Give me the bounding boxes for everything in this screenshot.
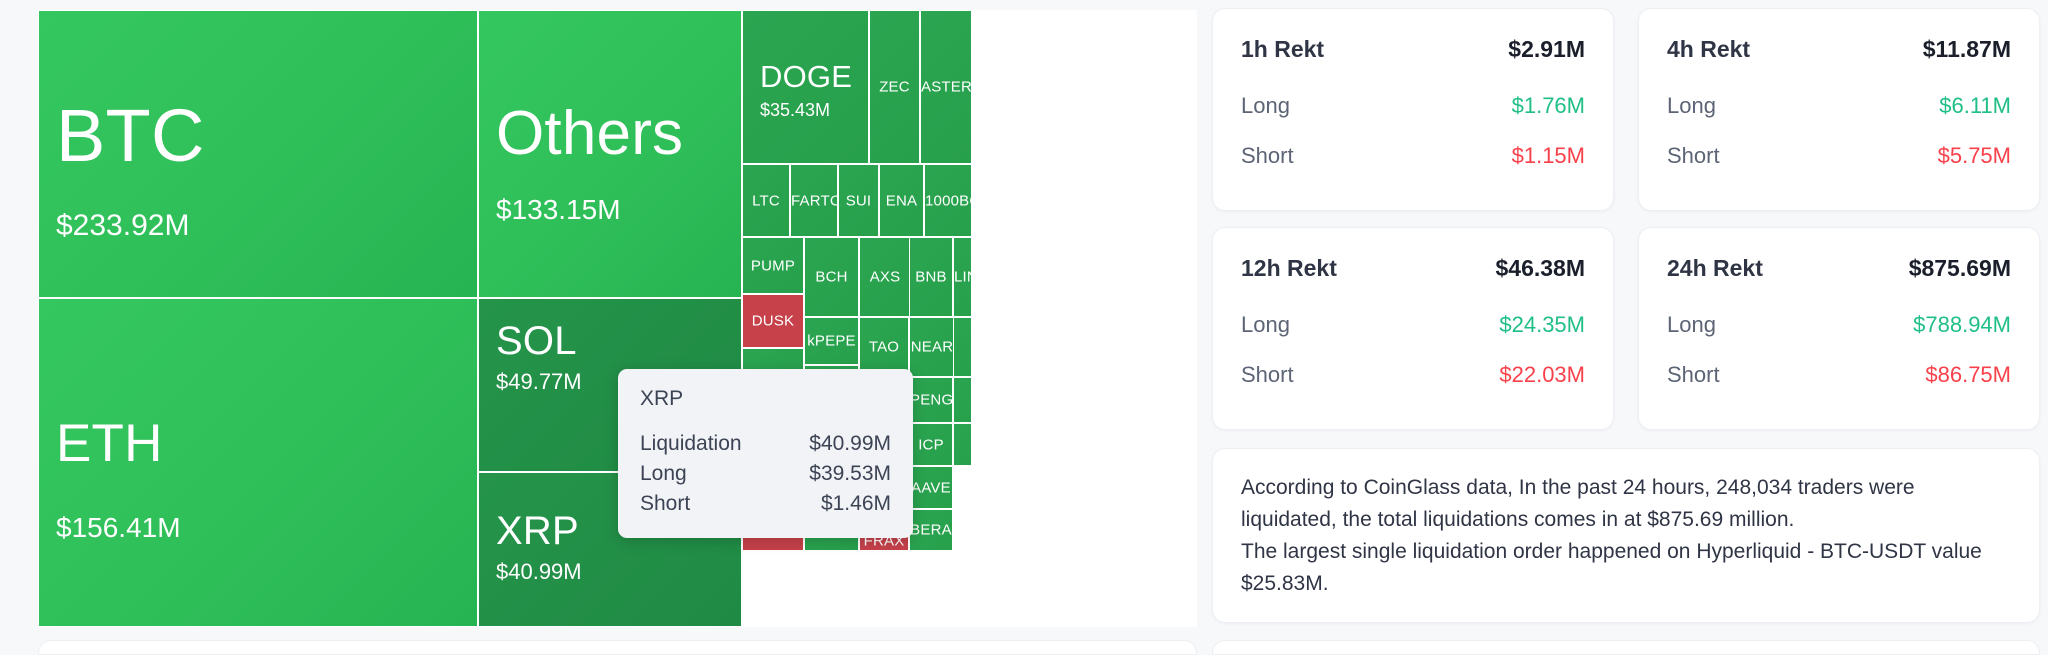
rekt-card-header: 24h Rekt$875.69M — [1667, 255, 2011, 282]
tile-value: $40.99M — [496, 561, 582, 583]
tile-value: $35.43M — [760, 101, 830, 119]
rekt-row-short: Short$1.15M — [1241, 143, 1585, 169]
tile-value: $49.77M — [496, 371, 582, 393]
bottom-card-right[interactable] — [1212, 640, 2040, 655]
tile-symbol: PENGU — [910, 393, 952, 408]
tile-symbol: ETH — [56, 417, 163, 470]
rekt-row-value: $5.75M — [1938, 143, 2011, 169]
tile-value: $156.41M — [56, 514, 181, 542]
treemap-tile-bera[interactable]: BERA — [909, 509, 953, 551]
tooltip-row: Short$1.46M — [640, 489, 891, 519]
rekt-row-label: Long — [1667, 312, 1716, 338]
tile-symbol: BTC — [56, 99, 205, 173]
treemap-tile-aster[interactable]: ASTER — [920, 10, 972, 164]
tooltip-row-value: $1.46M — [821, 489, 891, 519]
liquidation-treemap[interactable]: BTC$233.92METH$156.41MOthers$133.15MSOL$… — [38, 10, 1197, 627]
rekt-row-label: Short — [1241, 362, 1294, 388]
liquidation-dashboard: BTC$233.92METH$156.41MOthers$133.15MSOL$… — [0, 0, 2048, 655]
rekt-row-label: Long — [1241, 93, 1290, 119]
tooltip-row-label: Liquidation — [640, 429, 742, 459]
treemap-tile-bch[interactable]: BCH — [804, 237, 859, 317]
rekt-row-value: $1.15M — [1512, 143, 1585, 169]
tile-symbol: DOGE — [760, 61, 852, 92]
rekt-row-long: Long$6.11M — [1667, 93, 2011, 119]
tile-value: $133.15M — [496, 196, 621, 224]
treemap-tile-axs[interactable]: AXS — [859, 237, 911, 317]
tile-symbol: ICP — [910, 437, 952, 452]
treemap-tile-btc[interactable]: BTC$233.92M — [38, 10, 478, 298]
tooltip-row: Liquidation$40.99M — [640, 429, 891, 459]
rekt-card-total: $875.69M — [1909, 255, 2011, 282]
rekt-card-4h-rekt[interactable]: 4h Rekt$11.87MLong$6.11MShort$5.75M — [1638, 8, 2040, 211]
tile-value: $233.92M — [56, 211, 189, 241]
treemap-tooltip: XRP Liquidation$40.99MLong$39.53MShort$1… — [618, 369, 913, 538]
treemap-tile-eth[interactable]: ETH$156.41M — [38, 298, 478, 627]
tile-symbol: SUI — [839, 193, 878, 208]
rekt-row-value: $6.11M — [1939, 93, 2011, 119]
treemap-tile-unnamed-41[interactable] — [953, 423, 972, 466]
tile-symbol: BERA — [910, 523, 952, 538]
treemap-tile-doge[interactable]: DOGE$35.43M — [742, 10, 869, 164]
treemap-tile-aave[interactable]: AAVE — [909, 466, 953, 509]
rekt-card-title: 24h Rekt — [1667, 255, 1763, 282]
treemap-tile-zec[interactable]: ZEC — [869, 10, 920, 164]
treemap-tile-pengu[interactable]: PENGU — [909, 377, 953, 423]
rekt-card-12h-rekt[interactable]: 12h Rekt$46.38MLong$24.35MShort$22.03M — [1212, 227, 1614, 430]
rekt-card-total: $11.87M — [1923, 36, 2011, 63]
rekt-row-short: Short$86.75M — [1667, 362, 2011, 388]
tile-symbol: XRP — [496, 511, 579, 551]
tile-symbol: SOL — [496, 321, 577, 361]
treemap-tile-others[interactable]: Others$133.15M — [478, 10, 742, 298]
tile-symbol: LINK — [954, 270, 971, 285]
treemap-tile-fartcoin[interactable]: FARTCOIN — [790, 164, 838, 237]
tile-symbol: AXS — [860, 270, 910, 285]
tooltip-symbol: XRP — [640, 387, 891, 411]
tile-symbol: ENA — [880, 193, 923, 208]
tile-symbol: kPEPE — [805, 334, 858, 349]
right-panel: 1h Rekt$2.91MLong$1.76MShort$1.15M4h Rek… — [1212, 8, 2040, 655]
treemap-tile-dusk[interactable]: DUSK — [742, 294, 804, 348]
treemap-tile-pump[interactable]: PUMP — [742, 237, 804, 294]
tooltip-row-label: Short — [640, 489, 690, 519]
rekt-row-short: Short$5.75M — [1667, 143, 2011, 169]
rekt-row-value: $1.76M — [1512, 93, 1585, 119]
tile-symbol: PUMP — [743, 258, 803, 273]
rekt-row-value: $24.35M — [1499, 312, 1585, 338]
tile-symbol: DUSK — [743, 314, 803, 329]
tile-symbol: NEAR — [910, 340, 954, 355]
treemap-tile-ena[interactable]: ENA — [879, 164, 924, 237]
rekt-row-value: $86.75M — [1925, 362, 2011, 388]
rekt-card-title: 1h Rekt — [1241, 36, 1324, 63]
summary-description-card: According to CoinGlass data, In the past… — [1212, 448, 2040, 623]
rekt-row-long: Long$24.35M — [1241, 312, 1585, 338]
tile-symbol: TAO — [860, 340, 908, 355]
rekt-card-title: 12h Rekt — [1241, 255, 1337, 282]
tile-symbol: Others — [496, 103, 683, 165]
treemap-tile-icp[interactable]: ICP — [909, 423, 953, 466]
rekt-row-label: Short — [1241, 143, 1294, 169]
tile-symbol: LTC — [743, 193, 789, 208]
rekt-card-24h-rekt[interactable]: 24h Rekt$875.69MLong$788.94MShort$86.75M — [1638, 227, 2040, 430]
tooltip-row-label: Long — [640, 459, 687, 489]
treemap-tile-link[interactable]: LINK — [953, 237, 972, 317]
rekt-row-label: Short — [1667, 143, 1720, 169]
description-line-2: The largest single liquidation order hap… — [1241, 536, 2011, 600]
rekt-row-short: Short$22.03M — [1241, 362, 1585, 388]
tile-symbol: ZEC — [870, 80, 919, 95]
tile-symbol: 1000BONK — [925, 193, 971, 208]
tooltip-rows: Liquidation$40.99MLong$39.53MShort$1.46M — [640, 429, 891, 518]
treemap-tile-unnamed-39[interactable] — [953, 317, 972, 377]
rekt-card-title: 4h Rekt — [1667, 36, 1750, 63]
treemap-tile-bnb[interactable]: BNB — [909, 237, 953, 317]
tile-symbol: FARTCOIN — [791, 193, 837, 208]
rekt-row-long: Long$1.76M — [1241, 93, 1585, 119]
rekt-card-header: 4h Rekt$11.87M — [1667, 36, 2011, 63]
rekt-card-header: 12h Rekt$46.38M — [1241, 255, 1585, 282]
treemap-tile-1000bonk[interactable]: 1000BONK — [924, 164, 972, 237]
treemap-tile-ltc[interactable]: LTC — [742, 164, 790, 237]
treemap-tile-unnamed-40[interactable] — [953, 377, 972, 423]
description-line-1: According to CoinGlass data, In the past… — [1241, 472, 2011, 536]
tooltip-row: Long$39.53M — [640, 459, 891, 489]
rekt-row-value: $22.03M — [1499, 362, 1585, 388]
tooltip-row-value: $40.99M — [809, 429, 891, 459]
rekt-row-long: Long$788.94M — [1667, 312, 2011, 338]
rekt-card-total: $46.38M — [1495, 255, 1585, 282]
tile-symbol: AAVE — [910, 480, 952, 495]
treemap-tile-sui[interactable]: SUI — [838, 164, 879, 237]
rekt-row-value: $788.94M — [1913, 312, 2011, 338]
treemap-tile-near[interactable]: NEAR — [909, 317, 955, 377]
rekt-card-header: 1h Rekt$2.91M — [1241, 36, 1585, 63]
bottom-card-left[interactable] — [38, 640, 1197, 655]
rekt-row-label: Long — [1241, 312, 1290, 338]
rekt-row-label: Short — [1667, 362, 1720, 388]
tile-symbol: BCH — [805, 270, 858, 285]
tile-symbol: ASTER — [921, 80, 971, 95]
rekt-row-label: Long — [1667, 93, 1716, 119]
rekt-card-total: $2.91M — [1508, 36, 1585, 63]
treemap-tile-tao[interactable]: TAO — [859, 317, 909, 377]
tooltip-row-value: $39.53M — [809, 459, 891, 489]
rekt-card-1h-rekt[interactable]: 1h Rekt$2.91MLong$1.76MShort$1.15M — [1212, 8, 1614, 211]
tile-symbol: BNB — [910, 270, 952, 285]
treemap-tile-kpepe[interactable]: kPEPE — [804, 317, 859, 365]
